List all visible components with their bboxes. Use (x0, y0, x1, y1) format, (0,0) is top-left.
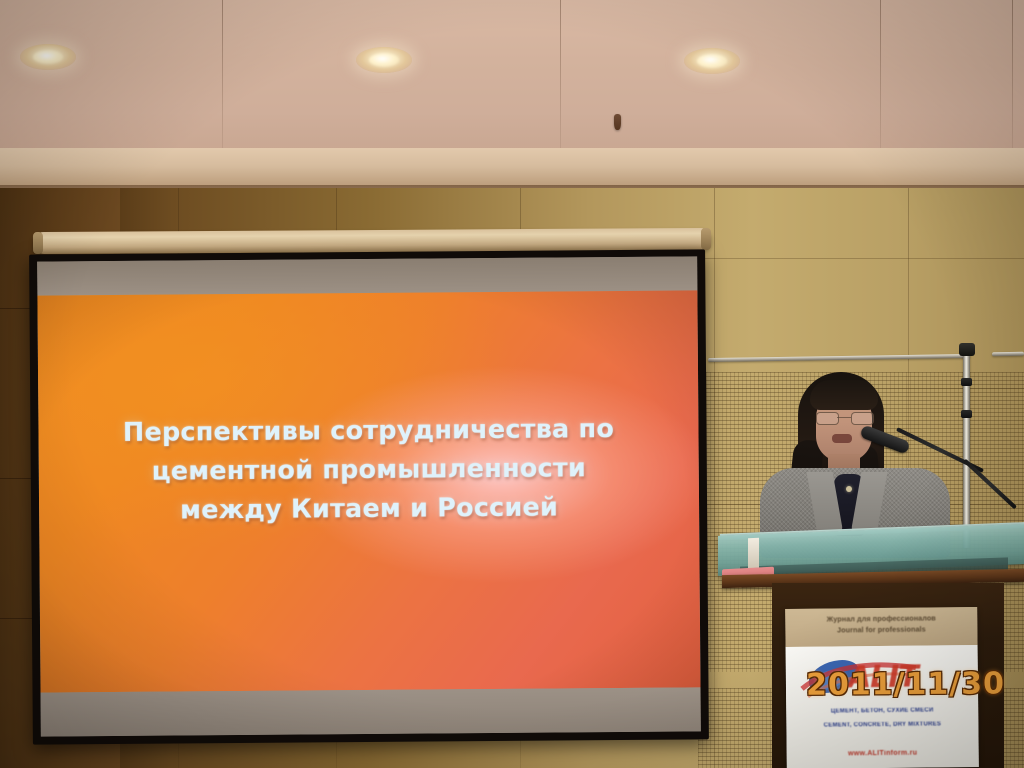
speaker (760, 368, 950, 548)
hair-fringe (810, 380, 878, 410)
pole-joint-icon (961, 378, 972, 386)
pole-cap-icon (959, 343, 975, 356)
banner-subtitle-ru: ЦЕМЕНТ, БЕТОН, СУХИЕ СМЕСИ (786, 707, 978, 715)
glasses-icon (816, 412, 872, 423)
wall-rail (992, 352, 1024, 357)
slide-title: Перспективы сотрудничества по цементной … (78, 410, 660, 531)
presentation-slide: Перспективы сотрудничества по цементной … (37, 290, 700, 692)
necklace-pendant-icon (846, 486, 852, 492)
conference-photo: Перспективы сотрудничества по цементной … (0, 0, 1024, 768)
mouth (832, 434, 852, 443)
pole-joint-icon (961, 410, 972, 418)
screen-fabric: Перспективы сотрудничества по цементной … (37, 256, 701, 736)
ceiling-downlight-icon (20, 44, 76, 70)
camera-date-stamp: 2011/11/30 (806, 666, 1005, 702)
podium-paper (748, 538, 759, 568)
ceiling-soffit (0, 148, 1024, 188)
banner-subtitle-en: CEMENT, CONCRETE, DRY MIXTURES (786, 721, 978, 729)
screen-unlit-band-top (37, 256, 697, 295)
banner-url: www.ALITinform.ru (787, 749, 979, 758)
ceiling-sprinkler-icon (614, 114, 621, 130)
slide-title-line-1: Перспективы сотрудничества по (78, 410, 659, 453)
projection-screen: Перспективы сотрудничества по цементной … (29, 249, 709, 744)
ceiling-downlight-icon (356, 47, 412, 73)
banner-body: ALIT ЦЕМЕНТ, БЕТОН, СУХИЕ СМЕСИ CEMENT, … (786, 645, 979, 768)
slide-title-line-2: цементной промышленности (78, 449, 659, 492)
ceiling (0, 0, 1024, 150)
slide-title-line-3: между Китаем и Россией (79, 487, 660, 530)
screen-unlit-band-bottom (41, 687, 701, 736)
banner-tagline-en: Journal for professionals (785, 624, 977, 637)
banner-tagline-strip: Журнал для профессионалов Journal for pr… (785, 607, 977, 647)
support-pole (963, 352, 970, 548)
ceiling-downlight-icon (684, 48, 740, 74)
